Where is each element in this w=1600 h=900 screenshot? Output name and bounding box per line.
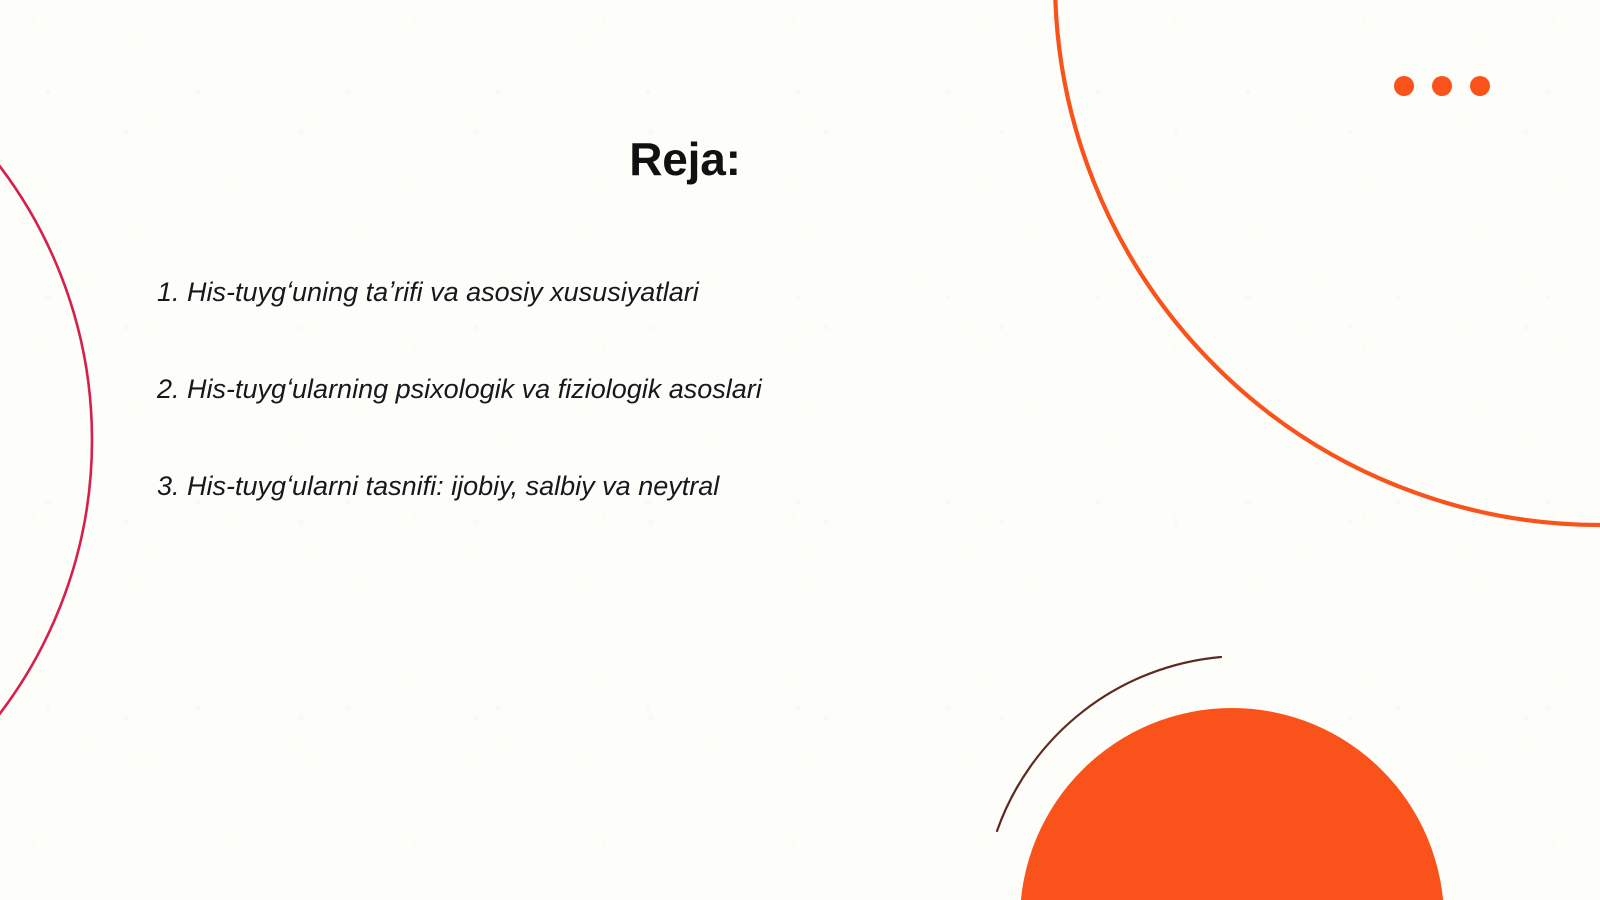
slide-content: Reja: 1. His-tuygʻuning taʼrifi va asosi…: [0, 0, 1370, 900]
agenda-list: 1. His-tuygʻuning taʼrifi va asosiy xusu…: [157, 276, 1177, 567]
dot-icon-3: [1470, 76, 1490, 96]
page-title: Reja:: [0, 132, 1370, 186]
list-item: 3. His-tuygʻularni tasnifi: ijobiy, salb…: [157, 470, 1177, 567]
list-item: 1. His-tuygʻuning taʼrifi va asosiy xusu…: [157, 276, 1177, 373]
dot-icon-2: [1432, 76, 1452, 96]
list-item: 2. His-tuygʻularning psixologik va fizio…: [157, 373, 1177, 470]
dot-icon-1: [1394, 76, 1414, 96]
slide-canvas: Reja: 1. His-tuygʻuning taʼrifi va asosi…: [0, 0, 1600, 900]
decorative-dot-row: [1394, 76, 1490, 96]
